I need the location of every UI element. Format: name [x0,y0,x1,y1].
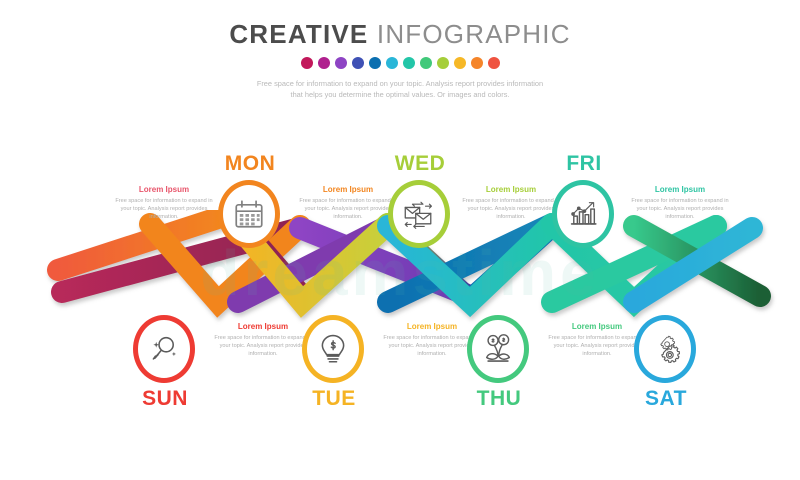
infographic-canvas: CREATIVE INFOGRAPHIC Free space for info… [0,0,800,480]
mail-icon-circle[interactable] [388,180,450,248]
description-block-mon-body: Free space for information to expand in … [296,197,400,221]
day-label-fri: FRI [552,152,616,176]
bulb-dollar-icon [316,332,350,366]
description-block-left: Lorem IpsumFree space for information to… [112,184,216,221]
color-dot-6 [403,57,415,69]
day-label-wed: WED [388,152,452,176]
money-plant-icon-circle[interactable] [467,315,529,383]
timeline-node-sun[interactable]: SUN [133,315,197,411]
color-dot-4 [369,57,381,69]
bulb-dollar-icon-circle[interactable] [302,315,364,383]
timeline-node-mon[interactable]: MON [218,152,282,248]
description-block-mon-title: Lorem Ipsum [296,184,400,195]
bar-chart-icon [566,197,600,231]
color-dot-5 [386,57,398,69]
description-block-fri-body: Free space for information to expand in … [628,197,732,221]
description-block-fri: Lorem IpsumFree space for information to… [628,184,732,221]
description-block-left-title: Lorem Ipsum [112,184,216,195]
color-dot-1 [318,57,330,69]
day-label-sun: SUN [133,387,197,411]
title-bold: CREATIVE [229,19,368,49]
timeline-node-fri[interactable]: FRI [552,152,616,248]
color-dot-row [0,57,800,69]
timeline-node-tue[interactable]: TUE [302,315,366,411]
magnifier-icon-circle[interactable] [133,315,195,383]
timeline-node-thu[interactable]: THU [467,315,531,411]
calendar-icon-circle[interactable] [218,180,280,248]
description-block-thu-title: Lorem Ipsum [545,321,649,332]
description-block-left-body: Free space for information to expand in … [112,197,216,221]
description-block-wed-title: Lorem Ipsum [459,184,563,195]
description-block-fri-title: Lorem Ipsum [628,184,732,195]
money-plant-icon [481,332,515,366]
color-dot-7 [420,57,432,69]
title-light: INFOGRAPHIC [377,19,571,49]
description-block-wed-body: Free space for information to expand in … [459,197,563,221]
day-label-tue: TUE [302,387,366,411]
color-dot-9 [454,57,466,69]
description-block-tue-title: Lorem Ipsum [380,321,484,332]
gears-icon-circle[interactable] [634,315,696,383]
color-dot-10 [471,57,483,69]
timeline-node-wed[interactable]: WED [388,152,452,248]
magnifier-icon [147,332,181,366]
day-label-thu: THU [467,387,531,411]
description-block-sun: Lorem IpsumFree space for information to… [211,321,315,358]
header: CREATIVE INFOGRAPHIC Free space for info… [0,18,800,100]
mail-icon [402,197,436,231]
color-dot-8 [437,57,449,69]
description-block-mon: Lorem IpsumFree space for information to… [296,184,400,221]
timeline-node-sat[interactable]: SAT [634,315,698,411]
color-dot-11 [488,57,500,69]
color-dot-3 [352,57,364,69]
day-label-mon: MON [218,152,282,176]
description-block-wed: Lorem IpsumFree space for information to… [459,184,563,221]
subtitle: Free space for information to expand on … [250,78,550,100]
day-label-sat: SAT [634,387,698,411]
description-block-sun-body: Free space for information to expand in … [211,334,315,358]
calendar-icon [232,197,266,231]
gears-icon [648,332,682,366]
description-block-sun-title: Lorem Ipsum [211,321,315,332]
color-dot-2 [335,57,347,69]
page-title: CREATIVE INFOGRAPHIC [0,18,800,50]
bar-chart-icon-circle[interactable] [552,180,614,248]
color-dot-0 [301,57,313,69]
